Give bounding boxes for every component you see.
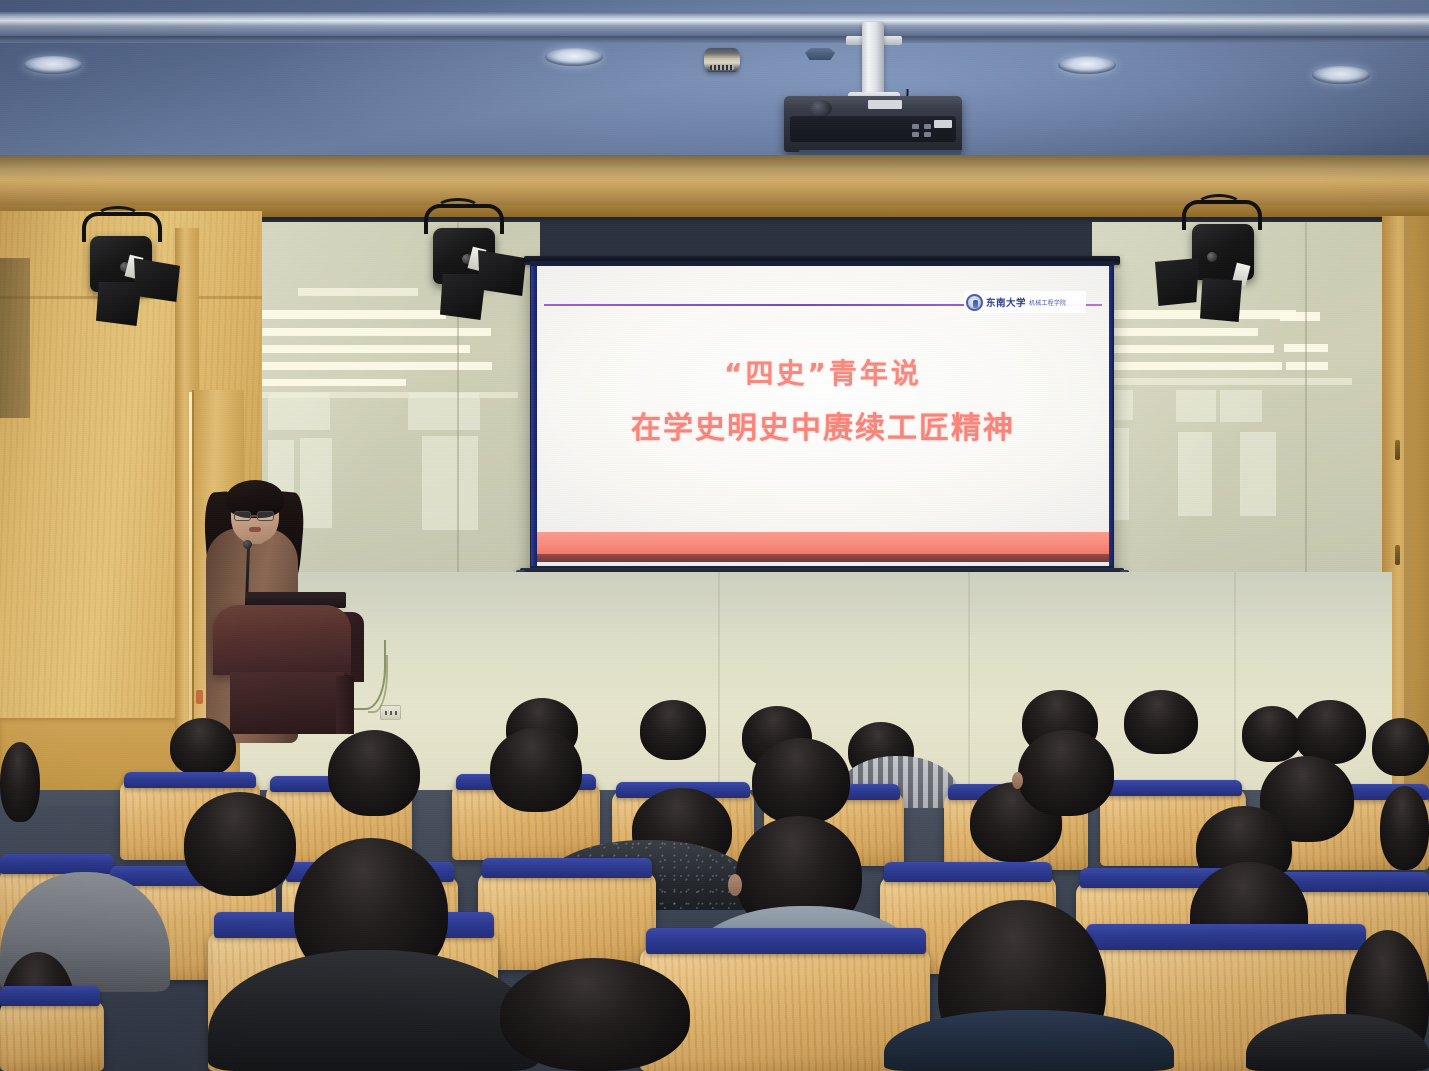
downlight-center-left [545,48,603,66]
ceiling-mount-clip [805,48,835,60]
audience-head [0,742,40,822]
logo-institution-text: 东南大学 [986,295,1026,309]
seat-cushion [124,772,256,788]
auditorium-seat[interactable] [478,872,656,970]
audience-head [170,718,236,776]
seat-cushion [0,854,114,874]
seat-cushion [482,858,652,878]
audience-head [752,738,850,824]
audience-head [184,792,296,896]
stage-light-barndoor [96,282,142,326]
wall-power-outlet [380,705,401,720]
presenter-glasses-right-lens [257,511,274,521]
projector-dial [808,100,832,117]
projector-button-3 [912,132,919,137]
projector-button-2 [924,124,931,129]
podium-base [230,672,344,734]
stage-light-knob [1207,252,1217,262]
audience-head [328,730,420,816]
door-stop [196,690,203,704]
projector-brand-label [868,100,902,109]
seat-cushion [1086,924,1366,950]
audience-ear [728,874,742,896]
stage-light-cable [96,206,140,226]
downlight-left [24,56,82,74]
right-door-handle-lower[interactable] [1395,545,1400,565]
stage-light-barndoor [440,274,486,320]
lecture-hall-photo: 东南大学 机械工程学院 “四史”青年说 在学史明史中赓续工匠精神 [0,0,1429,1071]
audience-head-foreground [500,958,690,1071]
slide-title-line-2: 在学史明史中赓续工匠精神 [537,412,1109,447]
audience-head [1294,700,1366,764]
seat-cushion [884,862,1052,882]
seat-cushion [1104,780,1242,796]
audience-head [490,728,582,812]
university-seal-icon [966,294,983,311]
podium-front-panel [213,605,351,675]
audience-head [1242,706,1302,762]
downlight-right [1312,66,1370,84]
seat-cushion [646,928,926,954]
projector-front-panel [790,116,956,142]
podium-leg [336,676,354,734]
presenter-glasses-bridge [251,515,257,517]
audience-head [1372,718,1429,776]
downlight-center-right [1058,56,1116,74]
slide-institution-logo: 东南大学 机械工程学院 [964,291,1086,313]
ceiling-metal-track-secondary [0,36,1429,43]
projector-side-label [934,120,952,128]
stage-light-barndoor [1200,278,1242,322]
slide-footer-band [537,532,1109,554]
stage-light-cable [436,198,480,218]
stage-light-cable [1196,194,1242,216]
slide-title-block: “四史”青年说 在学史明史中赓续工匠精神 [537,358,1109,447]
audience-head [1124,690,1198,754]
presenter-glasses-left-lens [234,511,251,521]
slide-footer-shadow [537,554,1109,562]
auditorium-seat[interactable] [0,1000,104,1071]
logo-department-text: 机械工程学院 [1029,298,1066,307]
audience-head [640,700,706,760]
projection-screen-surface: 东南大学 机械工程学院 “四史”青年说 在学史明史中赓续工匠精神 [537,266,1109,566]
projector-button-1 [912,124,919,129]
microphone-capsule [243,540,252,549]
audience-head [1018,730,1114,816]
ceiling-metal-track [0,12,1429,36]
stage-light-barndoor [1155,258,1199,306]
right-door-handle-upper[interactable] [1395,440,1400,460]
projector-button-4 [924,132,931,137]
ceiling-projector [784,96,962,152]
seat-cushion [0,986,100,1006]
smoke-detector-icon [704,48,740,72]
left-wall-dark-frame [0,258,30,418]
audience-ear [1012,772,1023,789]
audience-head [1380,786,1429,870]
presenter-mouth [249,527,261,532]
slide-title-line-1: “四史”青年说 [537,358,1109,390]
